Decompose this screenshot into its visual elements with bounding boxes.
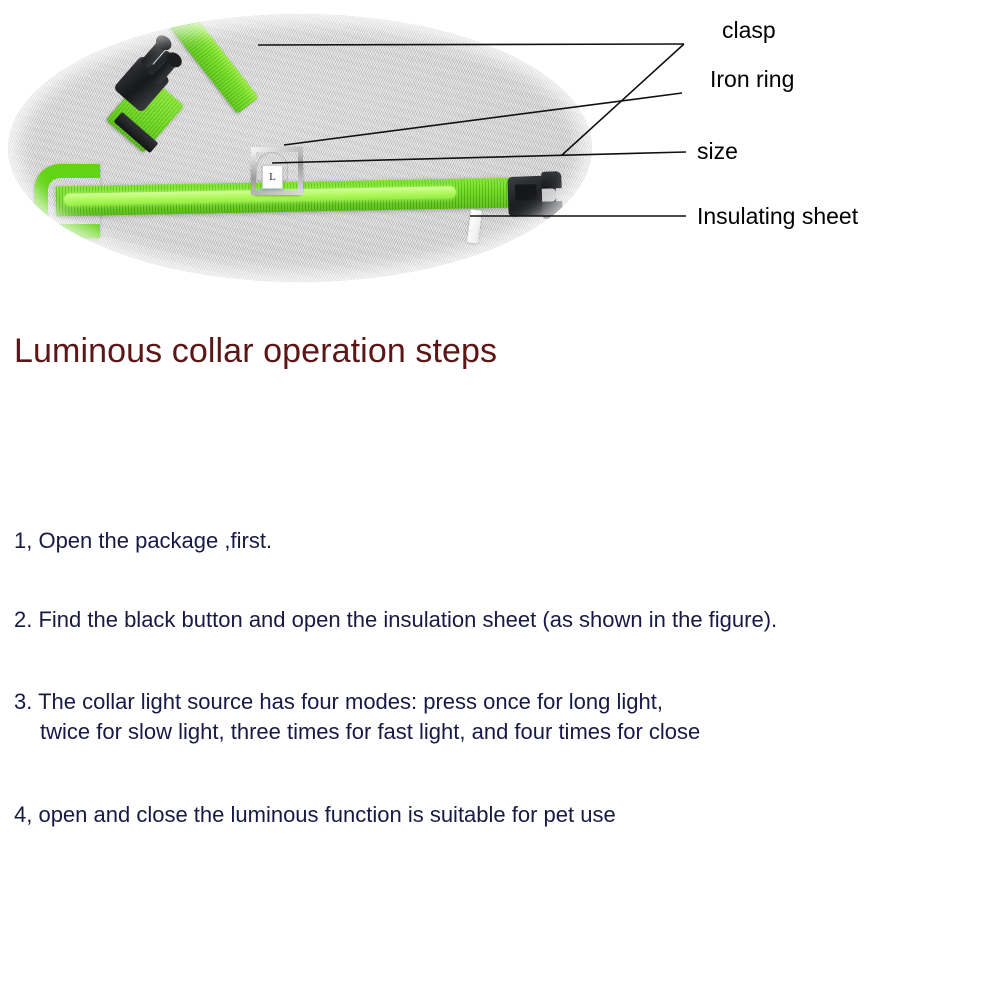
product-photo-oval: L: [8, 14, 592, 282]
buckle-fin-top: [541, 171, 562, 189]
step-text-line-1: 3. The collar light source has four mode…: [14, 689, 663, 714]
product-photo-panel: L clasp Iron ring size Insulating sheet: [0, 0, 1000, 300]
buckle-fin-bottom: [542, 201, 563, 219]
step-text-line-2: twice for slow light, three times for fa…: [14, 717, 700, 747]
callout-label-insulating-sheet: Insulating sheet: [697, 205, 858, 228]
instruction-step: 3. The collar light source has four mode…: [14, 687, 700, 747]
insulating-sheet-tab: [467, 209, 482, 243]
instruction-step: 2. Find the black button and open the in…: [14, 605, 777, 635]
callout-label-iron-ring: Iron ring: [710, 68, 794, 91]
callout-label-size: size: [697, 140, 738, 163]
instruction-step: 4, open and close the luminous function …: [14, 800, 616, 830]
buckle-notch: [542, 188, 556, 201]
instruction-step: 1, Open the package ,first.: [14, 526, 272, 556]
buckle-button-window: [515, 183, 538, 201]
step-text-line-1: 1, Open the package ,first.: [14, 528, 272, 553]
step-text-line-1: 2. Find the black button and open the in…: [14, 607, 777, 632]
callout-label-clasp: clasp: [722, 19, 776, 42]
page-title: Luminous collar operation steps: [14, 332, 497, 371]
size-tag: L: [262, 165, 283, 189]
step-text-line-1: 4, open and close the luminous function …: [14, 802, 616, 827]
clasp-prong-tip: [153, 32, 174, 53]
clasp-buckle-female: [507, 171, 565, 221]
